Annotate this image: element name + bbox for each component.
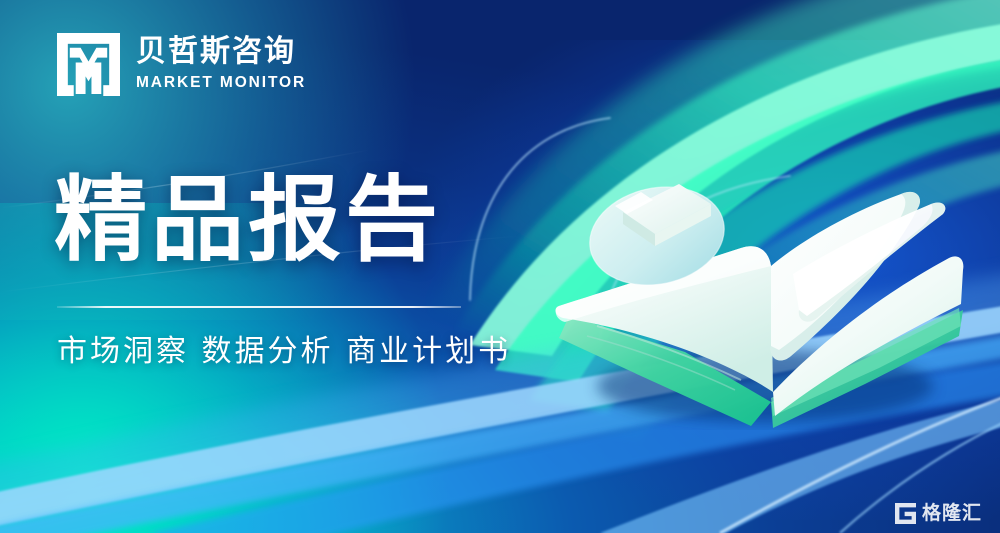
hero-divider <box>57 306 461 308</box>
brand-name-cn: 贝哲斯咨询 <box>136 35 306 69</box>
watermark: 格隆汇 <box>895 503 982 524</box>
brand-logo: 贝哲斯咨询 MARKET MONITOR <box>57 33 306 96</box>
open-book-illustration <box>545 140 965 430</box>
page-title: 精品报告 <box>54 172 442 270</box>
cover-content: 贝哲斯咨询 MARKET MONITOR 精品报告 市场洞察 数据分析 商业计划… <box>57 0 577 533</box>
gelonghui-g-logo-icon <box>895 503 916 524</box>
market-monitor-m-logo-icon <box>57 33 120 96</box>
brand-text: 贝哲斯咨询 MARKET MONITOR <box>136 35 306 93</box>
hero-subtitle: 市场洞察 数据分析 商业计划书 <box>57 330 511 374</box>
brand-name-en: MARKET MONITOR <box>136 72 306 94</box>
watermark-text: 格隆汇 <box>922 504 982 523</box>
report-cover-banner: 贝哲斯咨询 MARKET MONITOR 精品报告 市场洞察 数据分析 商业计划… <box>0 0 1000 533</box>
